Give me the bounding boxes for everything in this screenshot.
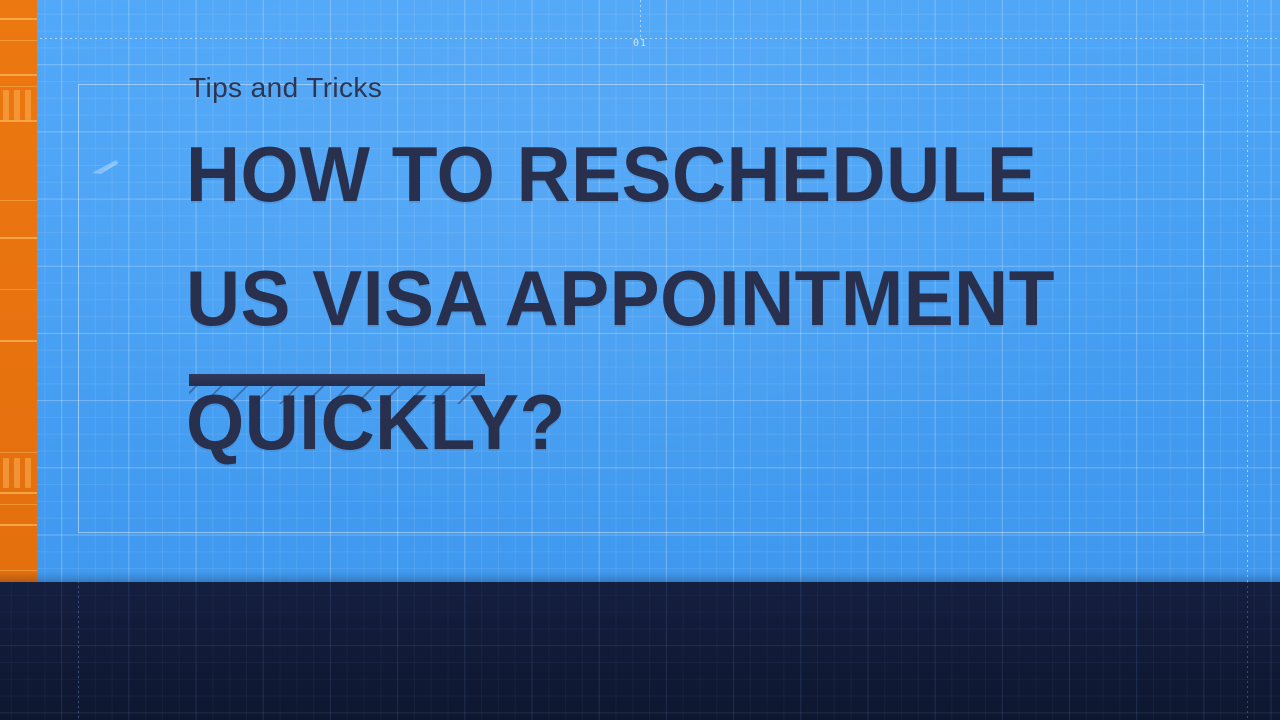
- rail-line: [0, 18, 37, 20]
- rail-line: [0, 200, 37, 201]
- canvas-bottom-shadow: [0, 572, 1280, 582]
- rail-line: [0, 504, 37, 505]
- presentation-slide: 01: [0, 0, 1280, 720]
- slide-title: How to Reschedule US Visa Appointment Qu…: [186, 112, 1156, 484]
- rail-line: [0, 237, 37, 239]
- divider-bar: [189, 374, 485, 386]
- rail-line: [0, 340, 37, 342]
- accent-rail: [0, 0, 37, 582]
- paper-plane-icon: [92, 160, 118, 174]
- slide-eyebrow: Tips and Tricks: [189, 72, 382, 104]
- slide-canvas: 01: [0, 0, 1280, 582]
- rail-bar-group: [3, 458, 34, 488]
- footer-panel: [0, 581, 1280, 720]
- guide-line-vertical-right: [1247, 0, 1248, 582]
- rail-line: [0, 524, 37, 526]
- title-divider: [189, 374, 489, 406]
- rail-line: [0, 40, 37, 41]
- rail-line: [0, 289, 37, 290]
- footer-guide-line-left: [78, 581, 79, 720]
- rail-line: [0, 570, 37, 571]
- guide-line-vertical-center: [640, 0, 641, 38]
- slide-number-marker: 01: [633, 38, 647, 49]
- footer-guide-line-right: [1247, 581, 1248, 720]
- rail-line: [0, 120, 37, 122]
- rail-line: [0, 74, 37, 76]
- rail-bar-group: [3, 90, 34, 120]
- rail-line: [0, 86, 37, 87]
- rail-line: [0, 452, 37, 453]
- rail-line: [0, 492, 37, 494]
- footer-grid-pattern: [0, 581, 1280, 720]
